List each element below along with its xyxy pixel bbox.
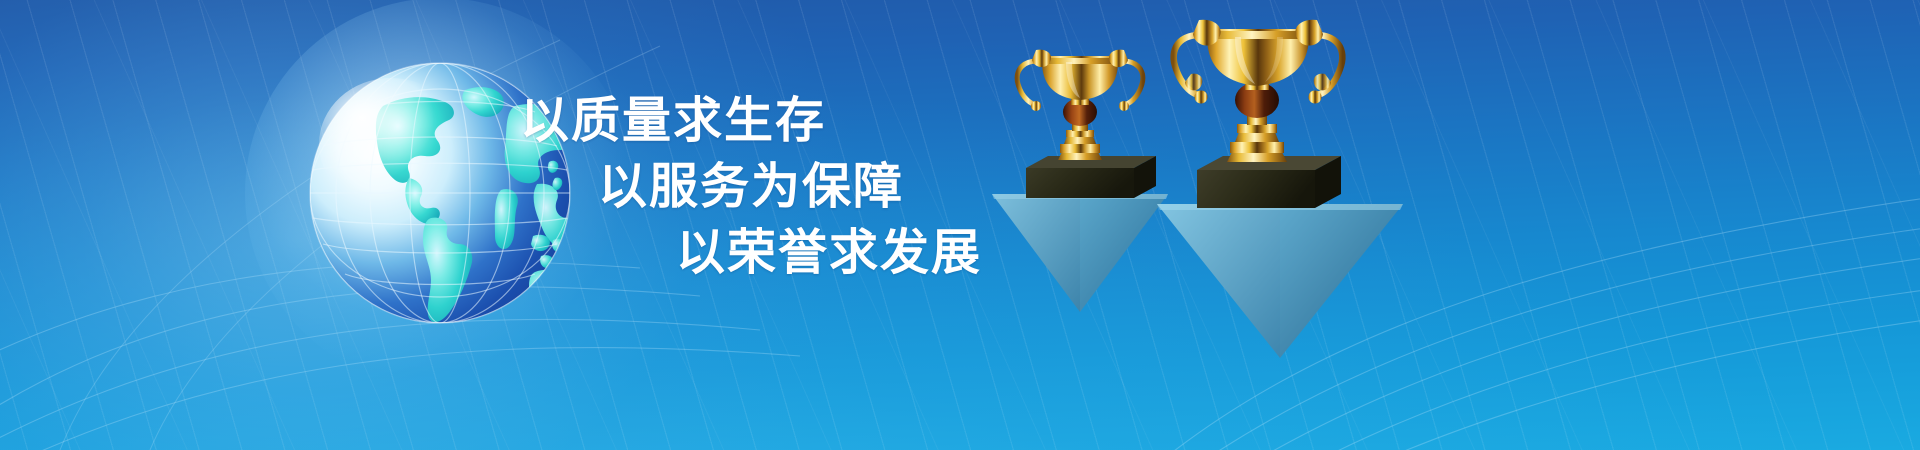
promo-banner: 以质量求生存 以服务为保障 以荣誉求发展 bbox=[0, 0, 1920, 450]
trophy-stem-small bbox=[1058, 122, 1102, 160]
trophy-large bbox=[1155, 18, 1405, 348]
trophy-stem-large bbox=[1227, 114, 1287, 162]
pedestal-large bbox=[1197, 156, 1341, 208]
trophy-small bbox=[980, 42, 1180, 312]
globe-specular-highlight bbox=[319, 78, 463, 210]
slogan-line-2: 以服务为保障 bbox=[598, 154, 990, 220]
trophy-cup-small bbox=[1042, 56, 1118, 100]
pedestal-small bbox=[1026, 156, 1156, 198]
pyramid-base-small bbox=[992, 194, 1168, 312]
trophy-cup-large bbox=[1207, 29, 1309, 86]
trophy-large-icon bbox=[1155, 18, 1405, 358]
slogan-line-3: 以荣誉求发展 bbox=[676, 220, 990, 286]
slogan-block: 以质量求生存 以服务为保障 以荣誉求发展 bbox=[520, 88, 990, 286]
slogan-line-1: 以质量求生存 bbox=[520, 88, 990, 154]
trophy-small-icon bbox=[980, 42, 1180, 312]
pyramid-base-large bbox=[1157, 204, 1403, 358]
